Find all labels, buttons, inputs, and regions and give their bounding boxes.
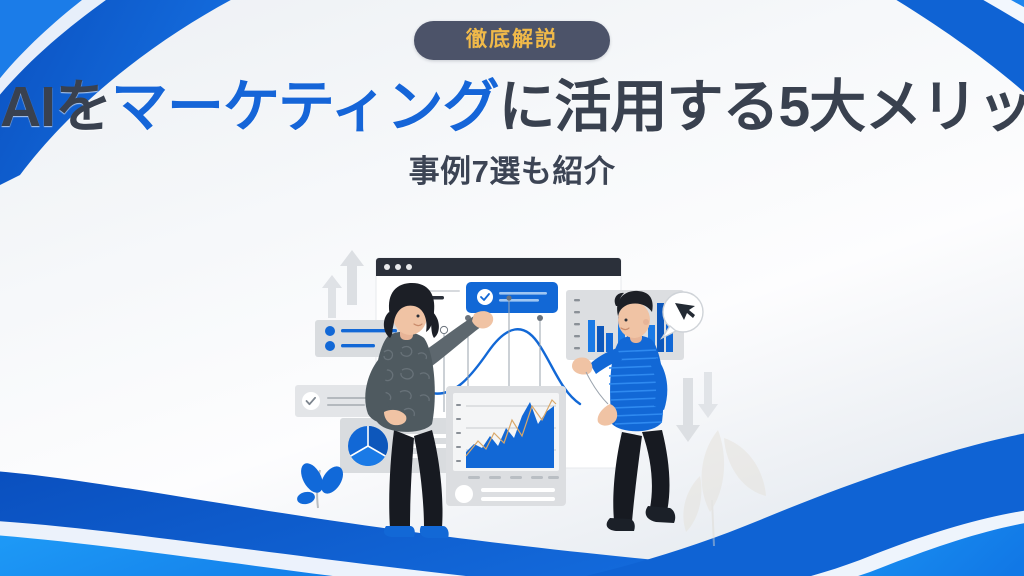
- header-block: 徹底解説 AIをマーケティングに活用する5大メリット 事例7選も紹介: [0, 0, 1024, 210]
- area-chart-panel[interactable]: [446, 386, 566, 506]
- browser-dot-red: [384, 264, 390, 270]
- browser-dot-yellow: [395, 264, 401, 270]
- shoe: [607, 518, 635, 531]
- title-part-1: AIを: [0, 75, 111, 139]
- cursor-speech-bubble: [662, 292, 703, 338]
- pie-chart-icon: [348, 426, 388, 466]
- browser-dot-green: [406, 264, 412, 270]
- leaf-right-icon: [683, 430, 766, 546]
- bullet-icon: [325, 341, 335, 351]
- eye: [417, 315, 420, 318]
- banner-root: 徹底解説 AIをマーケティングに活用する5大メリット 事例7選も紹介: [0, 0, 1024, 576]
- eye: [625, 319, 628, 322]
- shoe: [384, 526, 415, 537]
- badge-label: 徹底解説: [414, 21, 610, 60]
- shoe: [420, 526, 449, 538]
- blue-notification-card[interactable]: [466, 282, 558, 313]
- bullet-icon: [325, 326, 335, 336]
- arrow-up-large-icon: [340, 250, 364, 305]
- avatar: [455, 485, 473, 503]
- title-part-3: に活用する5大メリット: [498, 75, 1024, 139]
- page-title: AIをマーケティングに活用する5大メリット: [0, 78, 1024, 136]
- arrow-down-large-icon: [676, 378, 700, 442]
- plant-left-icon: [296, 460, 348, 508]
- check-circle-icon: [302, 392, 320, 410]
- title-highlight: マーケティング: [111, 75, 498, 139]
- check-circle-icon: [477, 289, 493, 305]
- arrow-down-small-icon: [698, 372, 718, 418]
- arrow-up-small-icon: [322, 275, 342, 318]
- shoe: [646, 506, 676, 523]
- page-subtitle: 事例7選も紹介: [0, 146, 1024, 191]
